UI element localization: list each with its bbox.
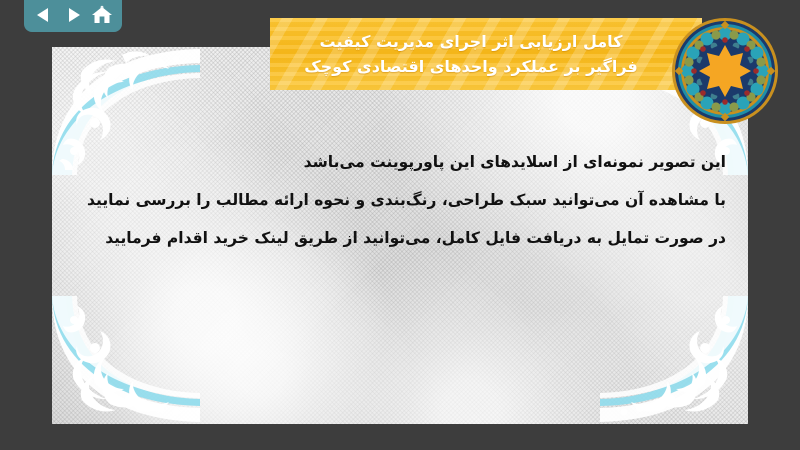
page-title: کامل ارزیابی اثر اجرای مدیریت کیفیت bbox=[320, 30, 653, 53]
body-line: در صورت تمایل به دریافت فایل کامل، می‌تو… bbox=[112, 220, 726, 258]
body-line: این تصویر نمونه‌ای از اسلایدهای این پاور… bbox=[112, 144, 726, 182]
triangle-left-icon bbox=[34, 5, 54, 25]
title-banner: کامل ارزیابی اثر اجرای مدیریت کیفیت فراگ… bbox=[270, 18, 702, 90]
home-icon bbox=[91, 5, 113, 25]
previous-slide-button[interactable] bbox=[31, 2, 57, 28]
persian-medallion-icon bbox=[670, 16, 780, 126]
home-button[interactable] bbox=[89, 2, 115, 28]
next-slide-button[interactable] bbox=[60, 2, 86, 28]
triangle-right-icon bbox=[63, 5, 83, 25]
navigation-toolbar bbox=[24, 0, 122, 32]
slide-frame: این تصویر نمونه‌ای از اسلایدهای این پاور… bbox=[52, 47, 748, 424]
slide-viewer: این تصویر نمونه‌ای از اسلایدهای این پاور… bbox=[0, 0, 800, 450]
page-subtitle: فراگیر بر عملکرد واحدهای اقتصادی کوچک bbox=[304, 55, 668, 78]
body-line: با مشاهده آن می‌توانید سبک طراحی، رنگ‌بن… bbox=[112, 182, 726, 220]
slide-body-text: این تصویر نمونه‌ای از اسلایدهای این پاور… bbox=[112, 144, 732, 258]
